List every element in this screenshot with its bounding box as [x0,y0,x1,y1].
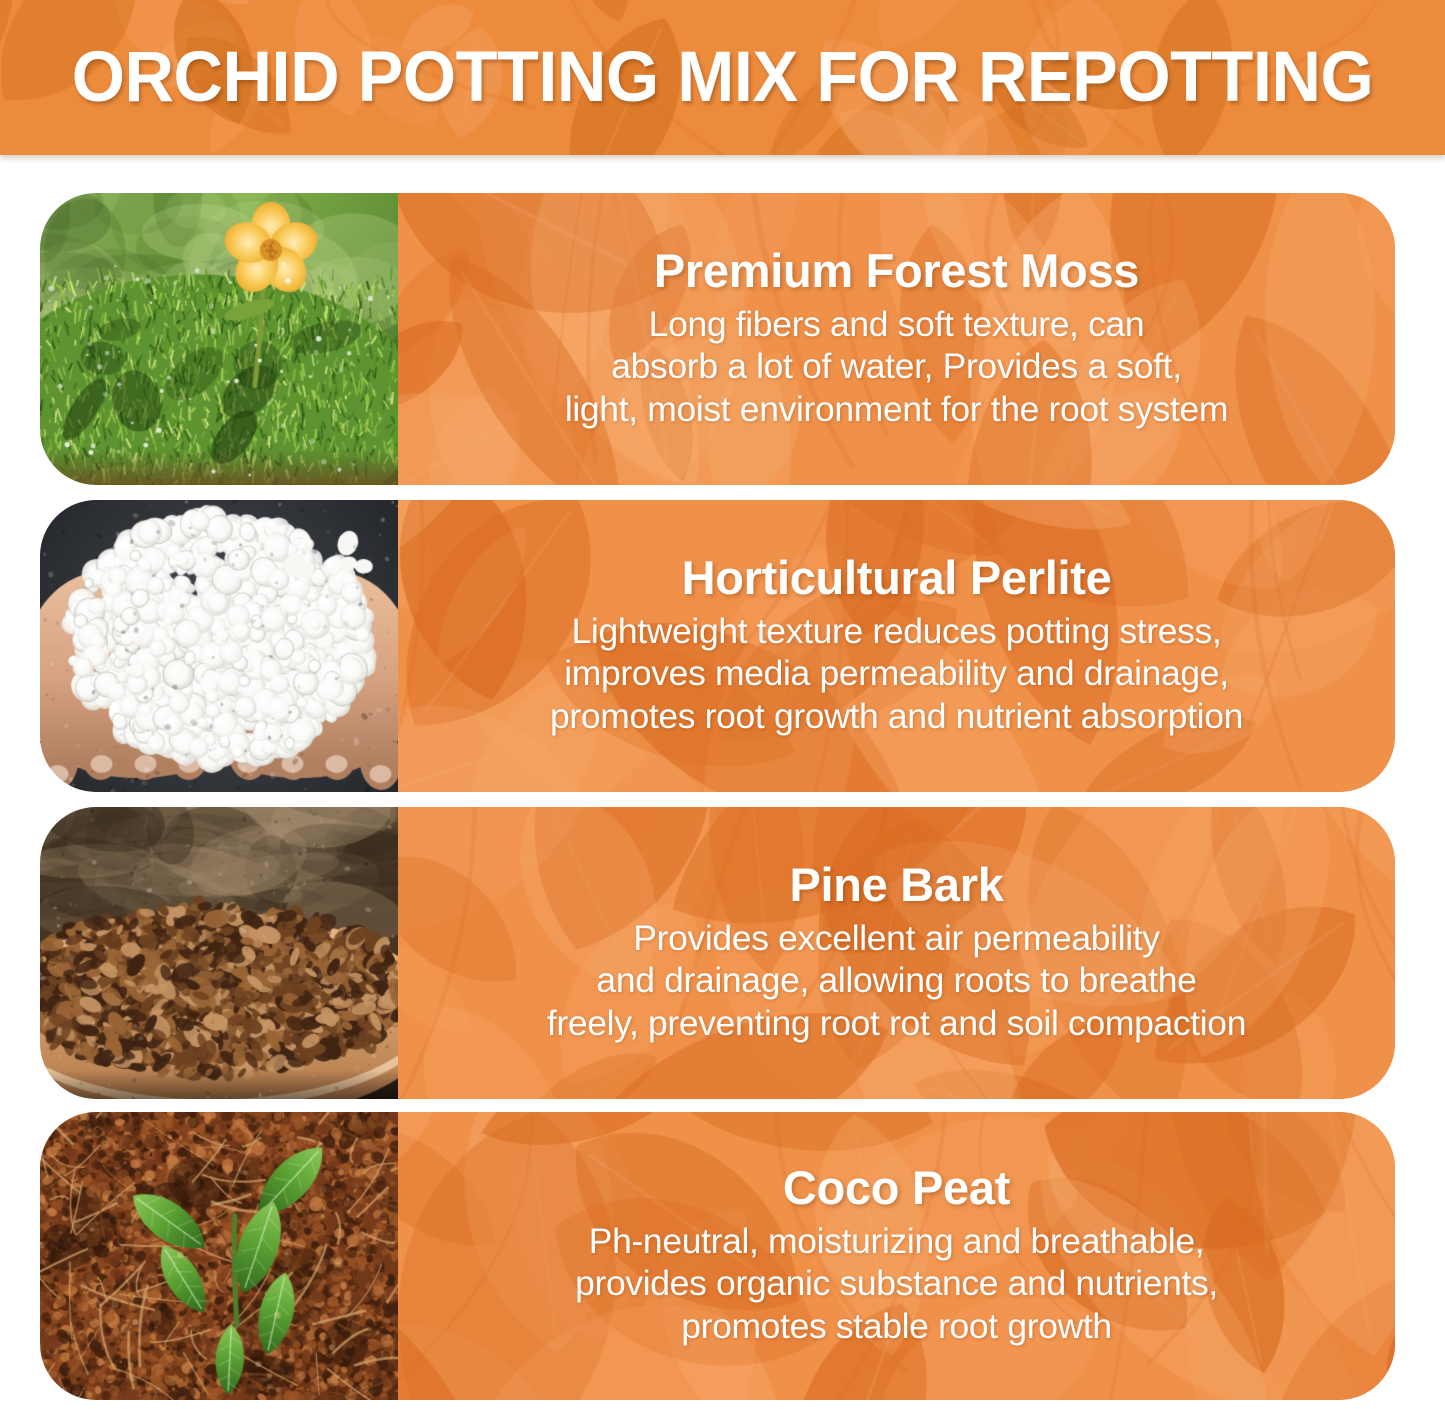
panel-pine-bark: Pine Bark Provides excellent air permeab… [398,807,1395,1099]
panel-coco-peat: Coco Peat Ph-neutral, moisturizing and b… [398,1112,1395,1400]
desc-line: provides organic substance and nutrients… [575,1262,1218,1305]
section-title: Horticultural Perlite [682,553,1112,603]
section-title: Premium Forest Moss [654,246,1139,296]
desc-line: promotes root growth and nutrient absorp… [550,695,1243,738]
perlite-photo [40,500,398,792]
section-description: Ph-neutral, moisturizing and breathable,… [575,1220,1218,1348]
desc-line: promotes stable root growth [575,1305,1218,1348]
panel-forest-moss: Premium Forest Moss Long fibers and soft… [398,193,1395,485]
desc-line: Provides excellent air permeability [547,917,1246,960]
page-title: ORCHID POTTING MIX FOR REPOTTING [25,0,1419,155]
section-description: Lightweight texture reduces potting stre… [550,610,1243,738]
pine-bark-photo [40,807,398,1099]
panel-horticultural-perlite: Horticultural Perlite Lightweight textur… [398,500,1395,792]
section-title: Pine Bark [789,860,1003,910]
section-row-pine-bark: Pine Bark Provides excellent air permeab… [40,807,1395,1099]
section-title: Coco Peat [783,1163,1010,1213]
desc-line: Lightweight texture reduces potting stre… [550,610,1243,653]
desc-line: absorb a lot of water, Provides a soft, [565,345,1228,388]
desc-line: freely, preventing root rot and soil com… [547,1002,1246,1045]
header-banner: ORCHID POTTING MIX FOR REPOTTING [0,0,1445,155]
desc-line: and drainage, allowing roots to breathe [547,959,1246,1002]
section-row-coco-peat: Coco Peat Ph-neutral, moisturizing and b… [40,1112,1395,1400]
desc-line: light, moist environment for the root sy… [565,388,1228,431]
desc-line: Long fibers and soft texture, can [565,303,1228,346]
desc-line: improves media permeability and drainage… [550,652,1243,695]
coco-peat-photo [40,1112,398,1400]
section-row-horticultural-perlite: Horticultural Perlite Lightweight textur… [40,500,1395,792]
desc-line: Ph-neutral, moisturizing and breathable, [575,1220,1218,1263]
forest-moss-photo [40,193,398,485]
section-description: Provides excellent air permeability and … [547,917,1246,1045]
infographic-page: ORCHID POTTING MIX FOR REPOTTING Premium… [0,0,1445,1409]
section-row-forest-moss: Premium Forest Moss Long fibers and soft… [40,193,1395,485]
section-description: Long fibers and soft texture, can absorb… [565,303,1228,431]
